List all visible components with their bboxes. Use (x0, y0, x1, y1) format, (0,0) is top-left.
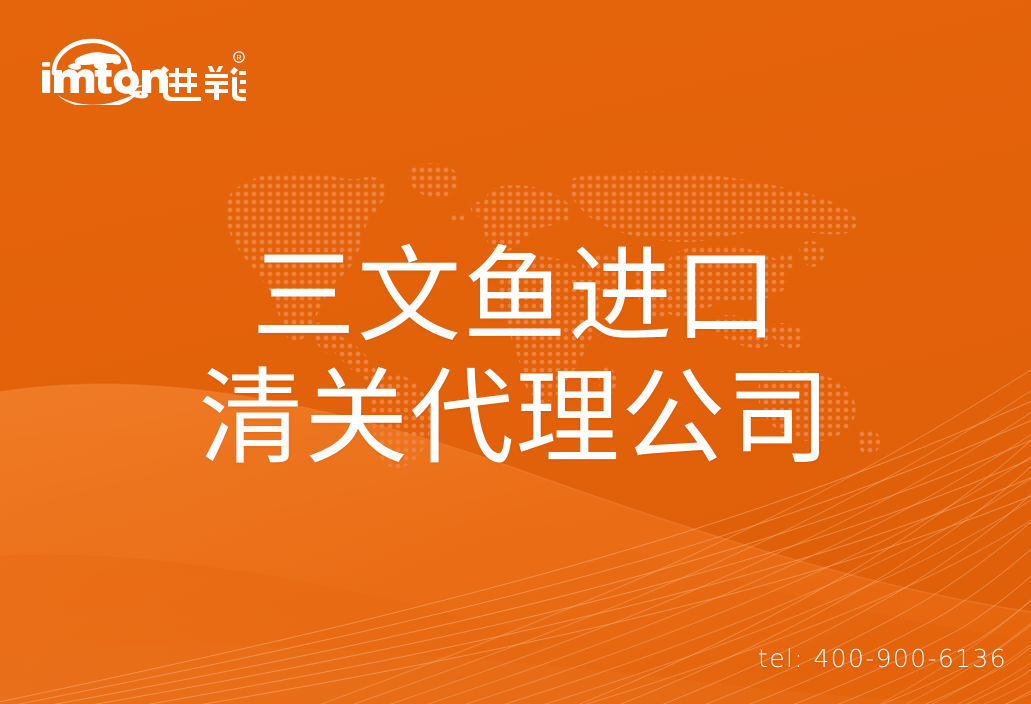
svg-text:R: R (236, 55, 241, 62)
brand-logo[interactable]: R (36, 33, 246, 105)
page-title: 三文鱼进口 清关代理公司 (0, 236, 1031, 479)
logo-chinese-text (161, 66, 246, 101)
promo-banner: R 三文鱼进口 清关代理公司 tel: 400-900-6136 (0, 0, 1031, 704)
registered-trademark-icon: R (234, 52, 244, 62)
headline-line-1: 三文鱼进口 (0, 236, 1031, 358)
contact-phone[interactable]: tel: 400-900-6136 (758, 644, 1007, 673)
headline-line-2: 清关代理公司 (0, 358, 1031, 480)
logo-wordmark (42, 62, 167, 94)
globe-arc-icon (54, 41, 130, 73)
